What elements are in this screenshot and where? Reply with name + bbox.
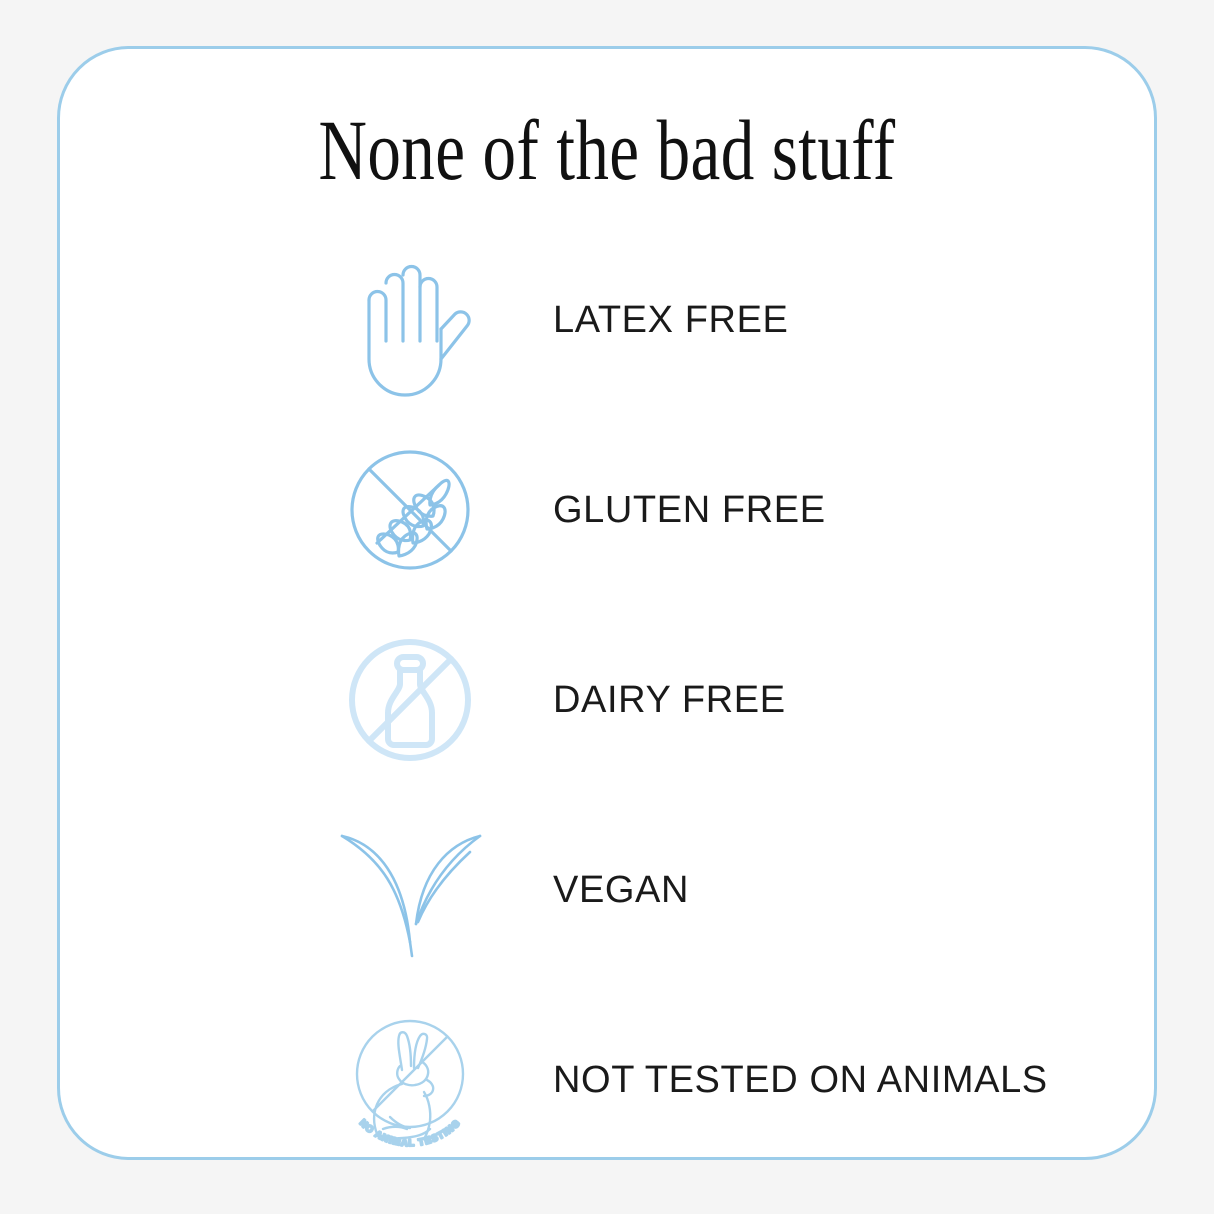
page-title: None of the bad stuff [180, 107, 1033, 193]
claim-label: VEGAN [553, 869, 689, 912]
vegan-leaves-icon [325, 805, 495, 975]
no-animal-testing-rabbit-icon: NO ANIMAL TESTING [325, 995, 495, 1165]
claims-list: LATEX FREE [60, 225, 1160, 1175]
claim-row-latex-free: LATEX FREE [60, 225, 1160, 415]
claim-row-dairy-free: DAIRY FREE [60, 605, 1160, 795]
claim-label: NOT TESTED ON ANIMALS [553, 1059, 1048, 1102]
claim-label: GLUTEN FREE [553, 489, 826, 532]
no-gluten-wheat-icon [325, 425, 495, 595]
open-hand-icon [325, 235, 495, 405]
page-root: None of the bad stuff LATEX FREE [0, 0, 1214, 1214]
claim-label: LATEX FREE [553, 299, 788, 342]
claims-card: None of the bad stuff LATEX FREE [57, 46, 1157, 1160]
claim-row-vegan: VEGAN [60, 795, 1160, 985]
no-dairy-bottle-icon [325, 615, 495, 785]
claim-row-not-tested-on-animals: NO ANIMAL TESTING NOT TESTED ON ANIMALS [60, 985, 1160, 1175]
claim-label: DAIRY FREE [553, 679, 786, 722]
claim-row-gluten-free: GLUTEN FREE [60, 415, 1160, 605]
